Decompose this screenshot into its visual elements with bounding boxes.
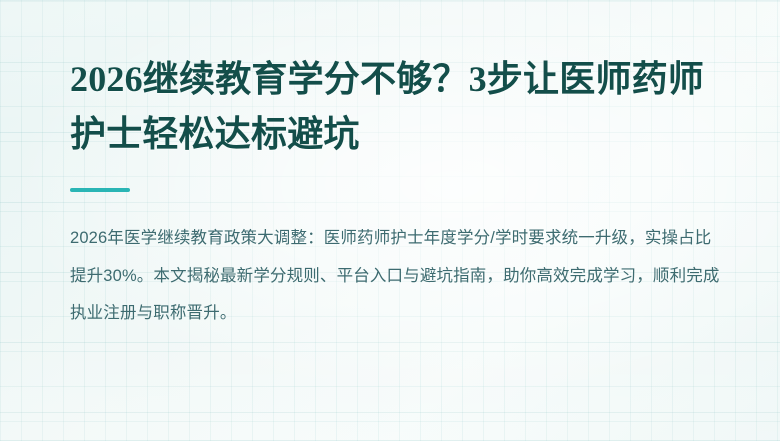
page-title: 2026继续教育学分不够？3步让医师药师护士轻松达标避坑 (70, 52, 720, 161)
article-cover-card: 2026继续教育学分不够？3步让医师药师护士轻松达标避坑 2026年医学继续教育… (0, 0, 780, 441)
cover-content: 2026继续教育学分不够？3步让医师药师护士轻松达标避坑 2026年医学继续教育… (70, 52, 736, 332)
title-accent-divider (70, 188, 130, 192)
top-edge-hairline (0, 0, 780, 1)
article-summary: 2026年医学继续教育政策大调整：医师药师护士年度学分/学时要求统一升级，实操占… (70, 220, 724, 331)
